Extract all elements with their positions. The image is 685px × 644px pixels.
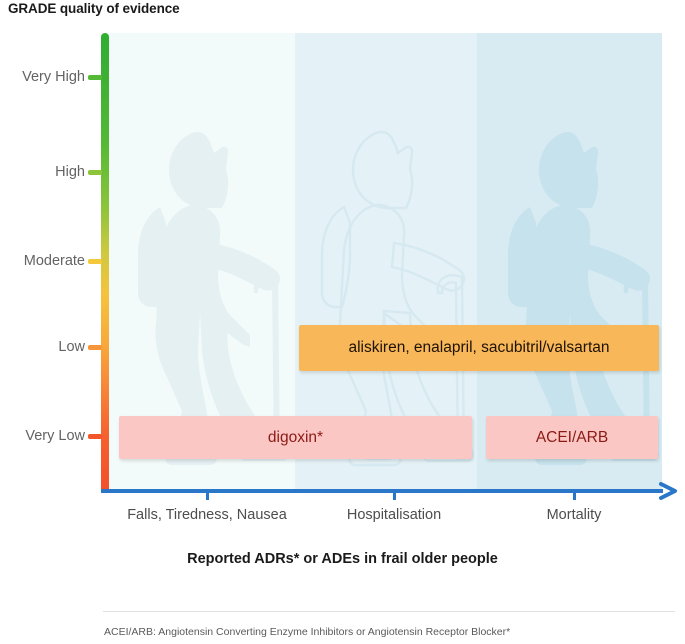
x-axis-title: Reported ADRs* or ADEs in frail older pe… bbox=[0, 551, 685, 567]
y-tick-mark-very-low bbox=[88, 434, 102, 439]
y-axis-label-moderate: Moderate bbox=[24, 253, 85, 269]
footnote-divider bbox=[103, 611, 675, 612]
arrow-right-icon bbox=[655, 476, 685, 506]
x-tick-mark-mortality bbox=[573, 489, 576, 500]
y-tick-mark-moderate bbox=[88, 259, 102, 264]
evidence-box-aliskiren-enalapril-sacubitril-valsartan: aliskiren, enalapril, sacubitril/valsart… bbox=[299, 325, 659, 371]
grade-quality-gradient-axis bbox=[101, 33, 109, 491]
evidence-box-digoxin: digoxin* bbox=[119, 416, 472, 459]
x-axis-label-hospitalisation: Hospitalisation bbox=[294, 507, 494, 523]
y-axis-label-very-low: Very Low bbox=[25, 428, 85, 444]
evidence-box-acei-arb: ACEI/ARB bbox=[486, 416, 658, 459]
x-tick-mark-falls bbox=[206, 489, 209, 500]
x-axis-label-mortality: Mortality bbox=[474, 507, 674, 523]
y-axis-label-low: Low bbox=[58, 339, 85, 355]
x-axis-line bbox=[101, 489, 663, 493]
y-axis-label-very-high: Very High bbox=[22, 69, 85, 85]
y-axis-labels: Very High High Moderate Low Very Low bbox=[0, 0, 85, 644]
x-tick-mark-hospitalisation bbox=[393, 489, 396, 500]
footnote: ACEI/ARB: Angiotensin Converting Enzyme … bbox=[104, 626, 510, 638]
y-tick-mark-low bbox=[88, 345, 102, 350]
y-axis-label-high: High bbox=[55, 164, 85, 180]
y-tick-mark-very-high bbox=[88, 75, 102, 80]
y-tick-mark-high bbox=[88, 170, 102, 175]
x-axis-label-falls-tiredness-nausea: Falls, Tiredness, Nausea bbox=[107, 507, 307, 523]
